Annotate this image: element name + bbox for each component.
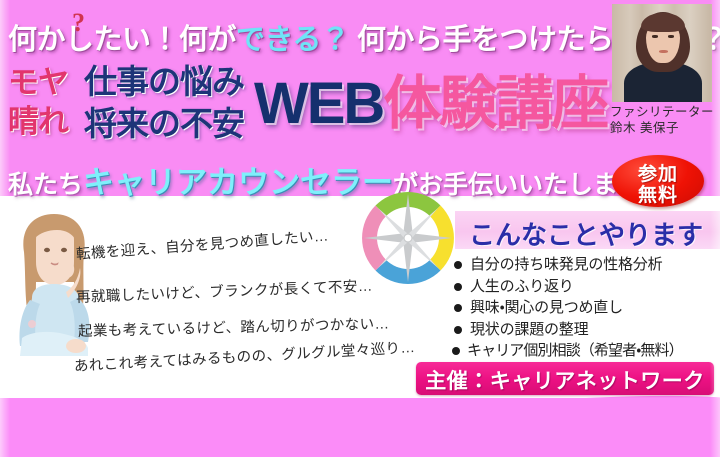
list-item-label: 自分の持ち味発見の性格分析 xyxy=(470,256,662,273)
list-item: キャリア個別相談（希望者・無料） xyxy=(452,340,720,362)
tagline: 何かしたい！何ができる？ 何から手をつけたらいいの？？ xyxy=(8,16,608,58)
facilitator-caption: ファシリテーター 鈴木 美保子 xyxy=(610,104,718,136)
photo-eye-left xyxy=(652,35,658,38)
question-mark-icon: ? xyxy=(72,8,85,38)
bullet-icon xyxy=(452,347,460,355)
compass-rose-icon xyxy=(358,188,458,288)
photo-mouth xyxy=(659,50,668,53)
photo-fringe xyxy=(641,13,685,32)
sponsor-banner: 主催：キャリアネットワーク xyxy=(416,362,714,395)
worry-subject-line-2: 将来の不安 xyxy=(84,103,256,145)
facilitator-role: ファシリテーター xyxy=(610,104,718,120)
photo-eye-right xyxy=(668,35,674,38)
tagline-highlight: できる？ xyxy=(236,24,349,56)
facilitator-name: 鈴木 美保子 xyxy=(610,120,718,136)
free-participation-badge: 参加 無料 xyxy=(612,155,704,207)
facilitator-photo xyxy=(612,4,712,102)
free-badge-line-2: 無料 xyxy=(612,180,704,207)
list-item-label: キャリア個別相談（希望者・無料） xyxy=(467,342,683,359)
panel-header: こんなことやります xyxy=(455,211,720,249)
sponsor-label: 主催：キャリアネットワーク xyxy=(416,365,714,395)
counselor-prefix: 私たち xyxy=(8,171,83,199)
activities-list: 自分の持ち味発見の性格分析 人生のふり返り 興味・関心の見つめ直し 現状の課題の… xyxy=(452,254,720,362)
list-item-label: 現状の課題の整理 xyxy=(470,321,588,338)
bullet-icon xyxy=(454,304,462,312)
woman-eye-right xyxy=(61,248,67,252)
tagline-part1: 何かしたい！何が xyxy=(8,24,236,56)
main-title-en: WEB xyxy=(254,71,383,136)
counselor-tagline: 私たちキャリアカウンセラーがお手伝いいたします xyxy=(8,157,608,202)
moya-label: モヤ 晴れ xyxy=(8,63,86,141)
headline-block: モヤ 晴れ 仕事の悩み 将来の不安 WEB体験講座 xyxy=(6,63,606,145)
main-title-jp: 体験講座 xyxy=(383,71,607,136)
list-item: 興味・関心の見つめ直し xyxy=(452,297,720,319)
flyer-canvas: 何かしたい！何ができる？ 何から手をつけたらいいの？？ モヤ 晴れ 仕事の悩み … xyxy=(0,0,720,457)
panel-header-text: こんなことやります xyxy=(469,215,703,252)
moya-line-2: 晴れ xyxy=(8,102,86,141)
counselor-emphasis: キャリアカウンセラー xyxy=(83,165,393,200)
bullet-icon xyxy=(454,261,462,269)
worry-subject-line-1: 仕事の悩み xyxy=(84,61,256,103)
moya-line-1: モヤ xyxy=(8,63,86,102)
woman-hand-lower xyxy=(66,339,86,353)
list-item: 現状の課題の整理 xyxy=(452,319,720,341)
woman-blush-shadow xyxy=(28,320,36,328)
list-item-label: 興味・関心の見つめ直し xyxy=(470,299,623,316)
bullet-icon xyxy=(454,283,462,291)
main-title: WEB体験講座 xyxy=(254,67,607,141)
worry-subject-label: 仕事の悩み 将来の不安 xyxy=(84,61,256,145)
list-item-label: 人生のふり返り xyxy=(470,278,574,295)
list-item: 人生のふり返り xyxy=(452,276,720,298)
woman-eye-left xyxy=(44,248,50,252)
list-item: 自分の持ち味発見の性格分析 xyxy=(452,254,720,276)
bullet-icon xyxy=(454,326,462,334)
